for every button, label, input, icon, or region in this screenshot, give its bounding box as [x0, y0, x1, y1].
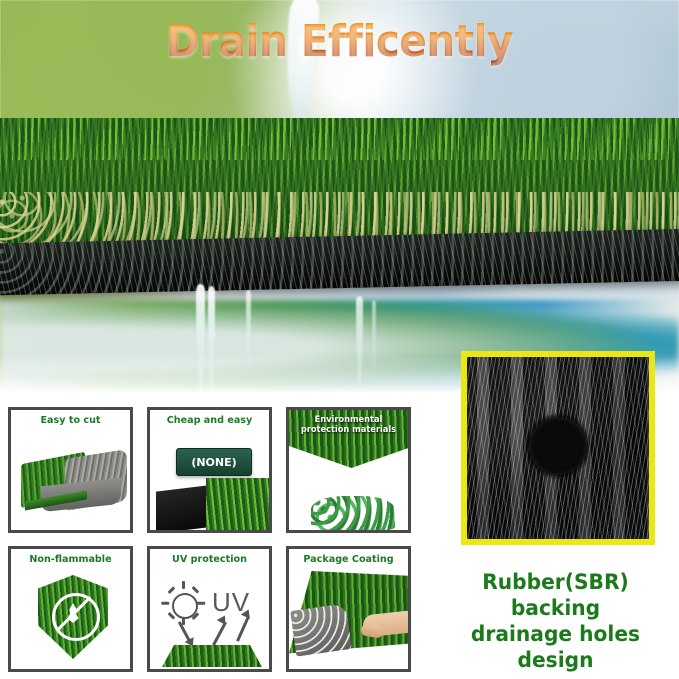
inset-caption: Rubber(SBR) backing drainage holes desig… — [439, 570, 671, 674]
feature-panel-label: Environmental protection materials — [291, 415, 405, 435]
inset-caption-line-2: drainage holes design — [439, 622, 671, 674]
sun-uv-reflect-icon: UV — [150, 549, 269, 669]
feature-panel-label: Package Coating — [291, 554, 405, 565]
rubber-backing-inset-photo — [461, 351, 655, 545]
feature-panel-label: Non-flammable — [13, 554, 127, 565]
plaque-text: (NONE) — [176, 448, 252, 476]
product-feature-image: Drain Efficently Rubber(SBR) backing dra… — [0, 0, 679, 679]
feature-panel-package-coating[interactable]: Package Coating — [286, 546, 411, 672]
feature-panel-easy-to-cut[interactable]: Easy to cut — [8, 407, 133, 533]
feature-panel-non-flammable[interactable]: Non-flammable — [8, 546, 133, 672]
feature-panel-label: Cheap and easy — [152, 415, 266, 426]
inset-caption-line-1: Rubber(SBR) backing — [439, 570, 671, 622]
price-plaque-icon: (NONE) — [150, 410, 269, 530]
hand-lifting-turf-icon — [289, 549, 408, 669]
turf-blade-tips — [0, 118, 679, 160]
feature-panel-grid: Easy to cut Cheap and easy (NONE) Enviro… — [8, 407, 420, 673]
feature-panel-environmental-materials[interactable]: Environmental protection materials — [286, 407, 411, 533]
headline-title: Drain Efficently — [27, 16, 652, 67]
feature-panel-uv-protection[interactable]: UV protection UV — [147, 546, 272, 672]
rolled-turf-icon — [11, 410, 130, 530]
drainage-hole-icon — [529, 417, 587, 475]
no-fire-shield-icon — [11, 549, 130, 669]
feature-panel-label: Easy to cut — [13, 415, 127, 426]
feature-panel-cheap-and-easy[interactable]: Cheap and easy (NONE) — [147, 407, 272, 533]
feature-panel-label: UV protection — [152, 554, 266, 565]
